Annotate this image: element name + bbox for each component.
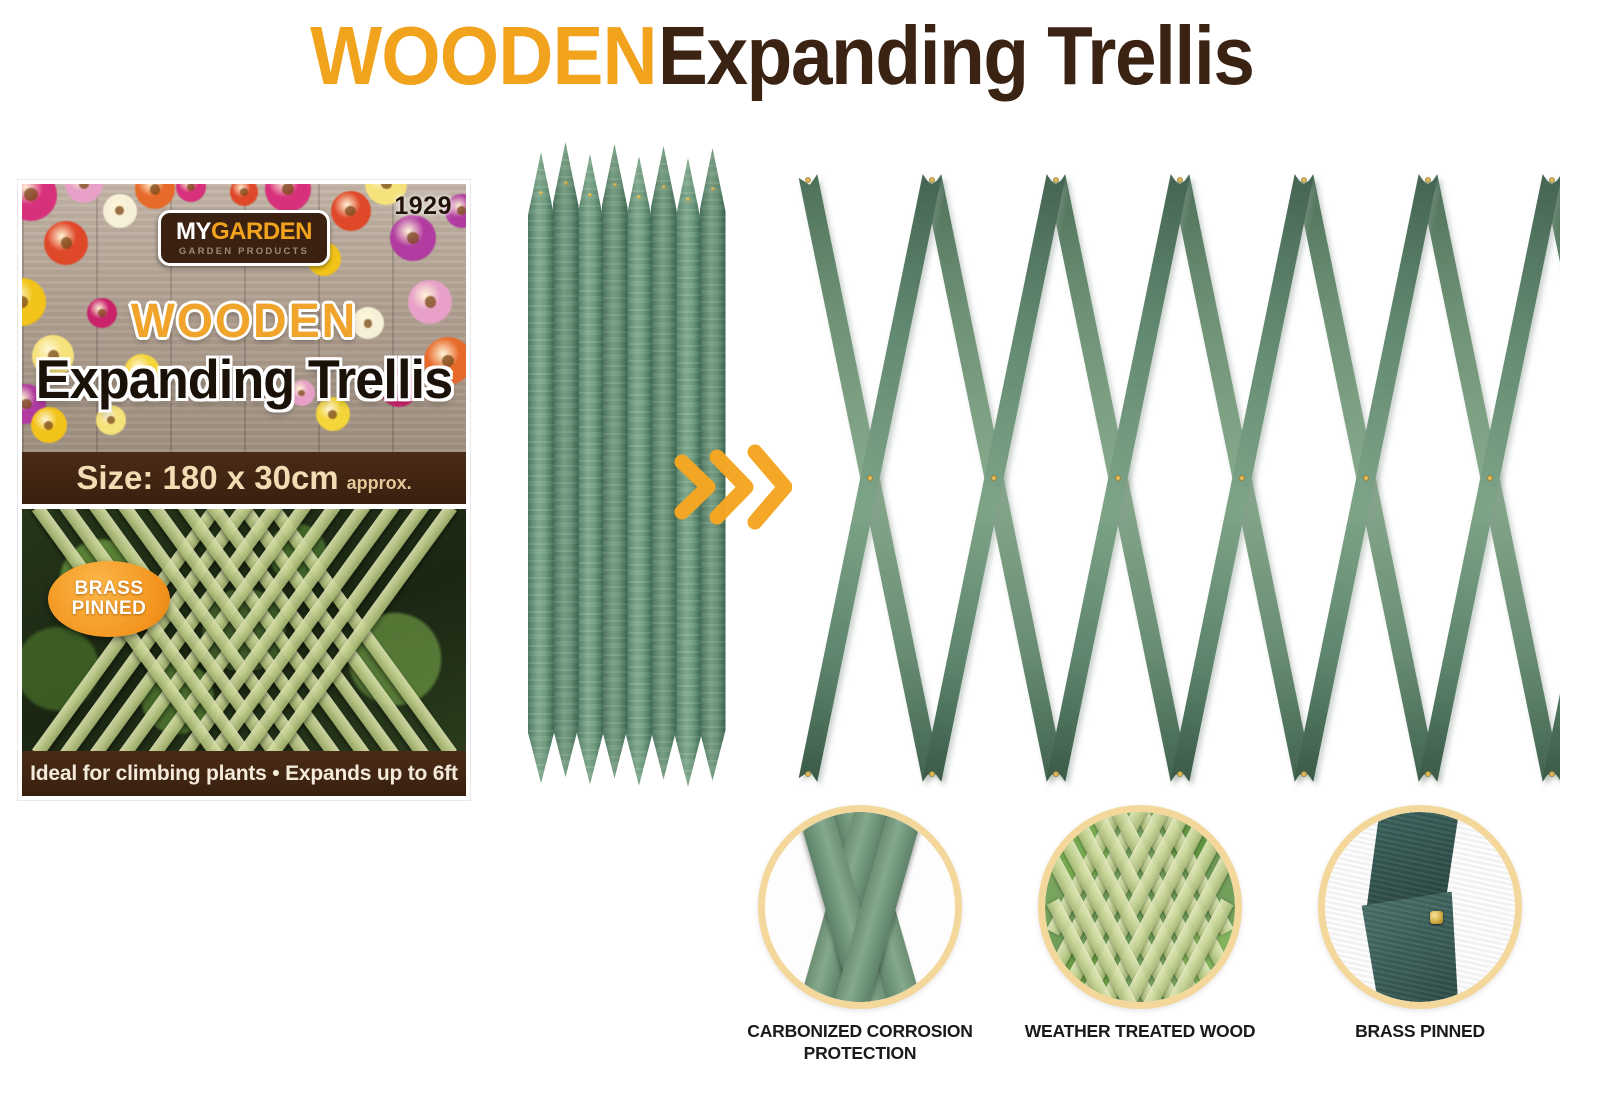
flower-blossom bbox=[22, 184, 57, 221]
brand-tagline: GARDEN PRODUCTS bbox=[176, 247, 312, 257]
brass-pin-icon bbox=[1177, 771, 1182, 776]
package-size-text: Size: 180 x 30cm bbox=[76, 459, 338, 497]
feature-label-carbonized: CARBONIZED CORROSION PROTECTION bbox=[740, 1021, 980, 1065]
trellis-foliage-closeup-icon bbox=[1045, 812, 1235, 1002]
brass-pin-icon bbox=[564, 181, 568, 185]
feature-circle-carbonized bbox=[758, 805, 962, 1009]
brass-pin-icon bbox=[686, 197, 690, 201]
feature-circle-weather bbox=[1038, 805, 1242, 1009]
collapsed-slat bbox=[602, 144, 628, 778]
brass-pin-icon bbox=[1363, 475, 1368, 480]
feature-label-brass: BRASS PINNED bbox=[1300, 1021, 1540, 1043]
wood-grain bbox=[553, 142, 579, 777]
brass-pin-joint-closeup-icon bbox=[1325, 812, 1515, 1002]
feature-callouts: CARBONIZED CORROSION PROTECTION WEATHER … bbox=[740, 805, 1580, 1075]
brass-pin-icon bbox=[1425, 177, 1430, 182]
brass-pin-icon bbox=[1053, 771, 1058, 776]
package-sku-number: 1929 bbox=[394, 192, 452, 221]
package-footer-text: Ideal for climbing plants • Expands up t… bbox=[30, 762, 458, 786]
trellis-slat bbox=[1543, 174, 1560, 782]
brass-pin-icon bbox=[1115, 475, 1120, 480]
feature-item-weather: WEATHER TREATED WOOD bbox=[1020, 805, 1260, 1043]
brass-pin-icon bbox=[867, 475, 872, 480]
collapsed-slat bbox=[553, 142, 579, 777]
title-highlight-word: WOODEN bbox=[310, 14, 657, 97]
package-title-main: Expanding Trellis bbox=[33, 347, 455, 411]
page-title: WOODENExpanding Trellis bbox=[0, 14, 1600, 97]
collapsed-slat bbox=[626, 156, 652, 786]
package-header-panel: 1929 MYGARDEN GARDEN PRODUCTS WOODEN Exp… bbox=[22, 184, 466, 452]
brass-pin-icon bbox=[1430, 911, 1443, 924]
expanded-trellis-lattice bbox=[790, 150, 1560, 810]
brass-pin-icon bbox=[1053, 177, 1058, 182]
brass-pin-icon bbox=[1549, 771, 1554, 776]
brass-pin-icon bbox=[1425, 771, 1430, 776]
brass-pin-icon bbox=[929, 177, 934, 182]
flower-blossom bbox=[331, 191, 371, 231]
brass-badge-line1: BRASS bbox=[74, 579, 143, 599]
brass-pin-icon bbox=[929, 771, 934, 776]
feature-item-carbonized: CARBONIZED CORROSION PROTECTION bbox=[740, 805, 980, 1065]
brand-logo-name: MYGARDEN bbox=[176, 220, 312, 244]
brass-pin-icon bbox=[1177, 177, 1182, 182]
feature-item-brass: BRASS PINNED bbox=[1300, 805, 1540, 1043]
brass-pin-icon bbox=[1239, 475, 1244, 480]
brass-pin-icon bbox=[805, 771, 810, 776]
brass-pin-icon bbox=[613, 183, 617, 187]
brass-pinned-badge: BRASS PINNED bbox=[48, 561, 170, 637]
flower-blossom bbox=[265, 184, 311, 212]
brass-pin-icon bbox=[1301, 177, 1306, 182]
brass-badge-line2: PINNED bbox=[72, 599, 147, 619]
flower-blossom bbox=[65, 184, 103, 203]
brass-pin-icon bbox=[1549, 177, 1554, 182]
package-size-bar: Size: 180 x 30cm approx. bbox=[22, 452, 466, 504]
brass-pin-icon bbox=[805, 177, 810, 182]
flower-blossom bbox=[31, 407, 67, 443]
brass-pin-icon bbox=[637, 195, 641, 199]
collapsed-slat bbox=[528, 152, 554, 783]
flower-blossom bbox=[44, 221, 88, 265]
brass-pin-icon bbox=[1301, 771, 1306, 776]
collapsed-slat bbox=[577, 154, 603, 784]
flower-blossom bbox=[103, 194, 137, 228]
trellis-slat bbox=[1543, 174, 1560, 782]
product-marketing-image: WOODENExpanding Trellis 1929 MYGARDEN GA… bbox=[0, 0, 1600, 1095]
brass-pin-icon bbox=[662, 185, 666, 189]
flower-blossom bbox=[230, 184, 258, 206]
brand-name-part1: MY bbox=[176, 218, 211, 245]
brass-pin-icon bbox=[991, 475, 996, 480]
trellis-crossing-closeup-icon bbox=[765, 812, 955, 1002]
wood-grain bbox=[602, 144, 628, 778]
chevron-right-icon bbox=[672, 438, 792, 536]
package-product-photo: BRASS PINNED bbox=[22, 509, 466, 751]
brass-pin-icon bbox=[1487, 475, 1492, 480]
feature-circle-brass bbox=[1318, 805, 1522, 1009]
package-footer-bar: Ideal for climbing plants • Expands up t… bbox=[22, 751, 466, 796]
wood-grain bbox=[528, 152, 554, 783]
wood-grain bbox=[626, 156, 652, 786]
product-packaging-box: 1929 MYGARDEN GARDEN PRODUCTS WOODEN Exp… bbox=[18, 180, 470, 800]
wood-grain bbox=[577, 154, 603, 784]
package-title-wooden: WOODEN bbox=[29, 294, 460, 349]
package-size-approx: approx. bbox=[347, 473, 412, 494]
brass-pin-icon bbox=[711, 187, 715, 191]
feature-label-weather: WEATHER TREATED WOOD bbox=[1020, 1021, 1260, 1043]
trellis-lattice-drawing bbox=[790, 150, 1560, 810]
flower-blossom bbox=[390, 215, 436, 261]
expansion-arrows bbox=[672, 438, 792, 536]
brand-logo-badge: MYGARDEN GARDEN PRODUCTS bbox=[158, 210, 330, 266]
flower-blossom bbox=[135, 184, 175, 209]
title-rest-words: Expanding Trellis bbox=[658, 14, 1254, 97]
flower-blossom bbox=[176, 184, 206, 202]
brand-name-part2: GARDEN bbox=[211, 218, 312, 245]
